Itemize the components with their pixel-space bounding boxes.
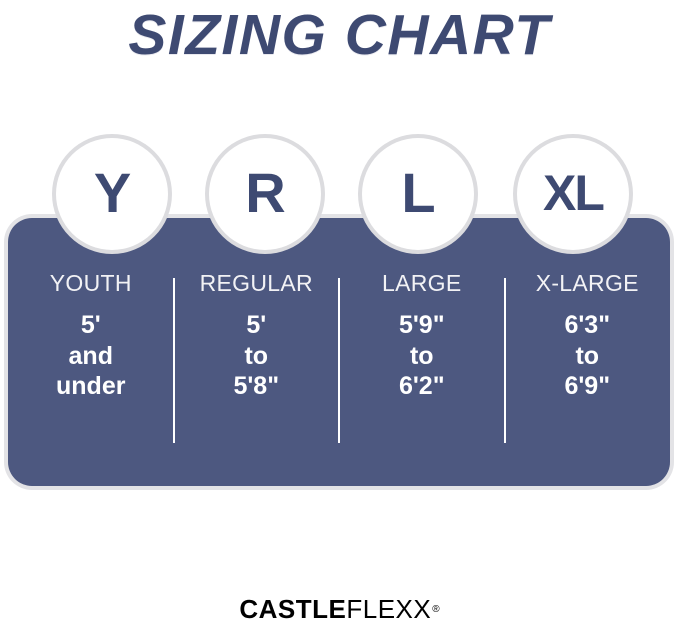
sizing-chart: Y R L XL YOUTH 5' and under REGULAR 5' t…	[0, 0, 679, 560]
size-range: 5'9" to 6'2"	[339, 310, 505, 402]
brand-logo: CASTLEFLEXX®	[0, 596, 679, 622]
size-badge-youth: Y	[56, 138, 168, 250]
size-column-youth: YOUTH 5' and under	[8, 218, 174, 486]
size-name: LARGE	[339, 272, 505, 295]
size-badge-letter: Y	[94, 165, 130, 221]
size-badge-regular: R	[209, 138, 321, 250]
size-name: REGULAR	[174, 272, 340, 295]
logo-text-castle: CASTLE	[239, 594, 346, 624]
size-badge-large: L	[362, 138, 474, 250]
size-range: 5' to 5'8"	[174, 310, 340, 402]
size-badge-letter: L	[401, 165, 434, 221]
size-column-large: LARGE 5'9" to 6'2"	[339, 218, 505, 486]
size-name: YOUTH	[8, 272, 174, 295]
size-name: X-LARGE	[505, 272, 671, 295]
size-range: 5' and under	[8, 310, 174, 402]
logo-text-flexx: FLEXX	[346, 594, 431, 624]
size-range: 6'3" to 6'9"	[505, 310, 671, 402]
registered-trademark-icon: ®	[432, 604, 439, 615]
size-badge-xlarge: XL	[517, 138, 629, 250]
size-column-xlarge: X-LARGE 6'3" to 6'9"	[505, 218, 671, 486]
size-columns: YOUTH 5' and under REGULAR 5' to 5'8" LA…	[8, 218, 670, 486]
size-badge-letter: XL	[543, 168, 603, 218]
size-column-regular: REGULAR 5' to 5'8"	[174, 218, 340, 486]
size-badge-letter: R	[245, 165, 284, 221]
